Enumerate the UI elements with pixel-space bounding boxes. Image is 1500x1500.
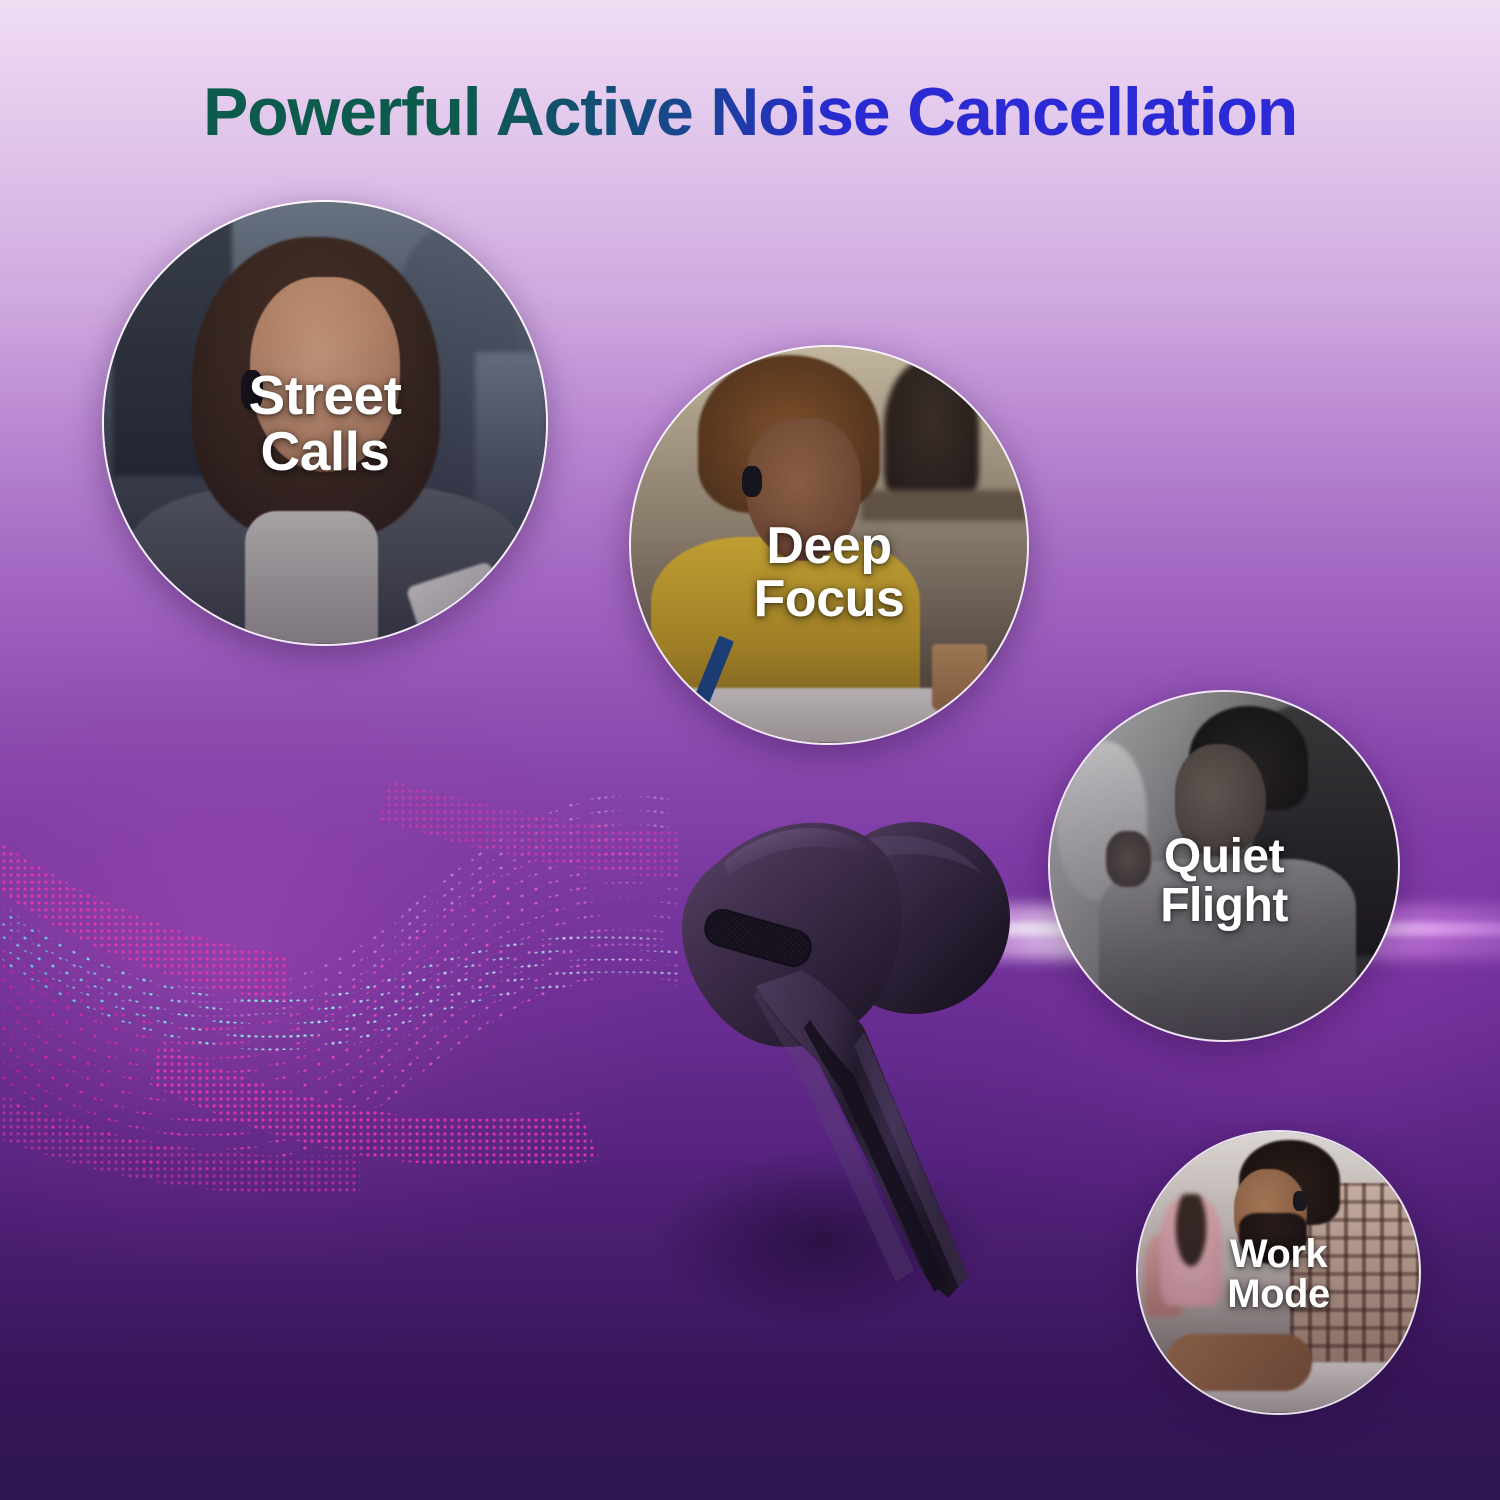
- caption-line-1: Deep: [643, 520, 1015, 573]
- feature-caption-quiet-flight: Quiet Flight: [1050, 833, 1398, 931]
- feature-caption-street-calls: Street Calls: [104, 367, 546, 479]
- caption-line-2: Focus: [643, 573, 1015, 626]
- product-feature-poster: Powerful Active Noise Cancellation: [0, 0, 1500, 1500]
- earbud-stem: [754, 970, 968, 1298]
- earbud-body: [682, 823, 902, 1047]
- feature-bubble-street-calls[interactable]: Street Calls: [102, 200, 548, 646]
- caption-line-1: Quiet: [1062, 833, 1386, 882]
- earbud-product-image: [596, 770, 1036, 1350]
- ear-tip: [818, 822, 1010, 1014]
- particle-soundwave-icon: [0, 740, 680, 1200]
- mic-grille-icon: [701, 906, 815, 970]
- feature-caption-work-mode: Work Mode: [1138, 1234, 1419, 1316]
- feature-bubble-work-mode[interactable]: Work Mode: [1136, 1130, 1421, 1415]
- feature-caption-deep-focus: Deep Focus: [631, 520, 1027, 626]
- caption-line-2: Calls: [116, 423, 534, 479]
- caption-line-1: Work: [1150, 1234, 1407, 1275]
- feature-bubble-quiet-flight[interactable]: Quiet Flight: [1048, 690, 1400, 1042]
- page-title: Powerful Active Noise Cancellation: [0, 78, 1500, 146]
- feature-bubble-deep-focus[interactable]: Deep Focus: [629, 345, 1029, 745]
- caption-line-1: Street: [116, 367, 534, 423]
- caption-line-2: Mode: [1150, 1275, 1407, 1316]
- caption-line-2: Flight: [1062, 882, 1386, 931]
- background-glow-left: [0, 640, 680, 1280]
